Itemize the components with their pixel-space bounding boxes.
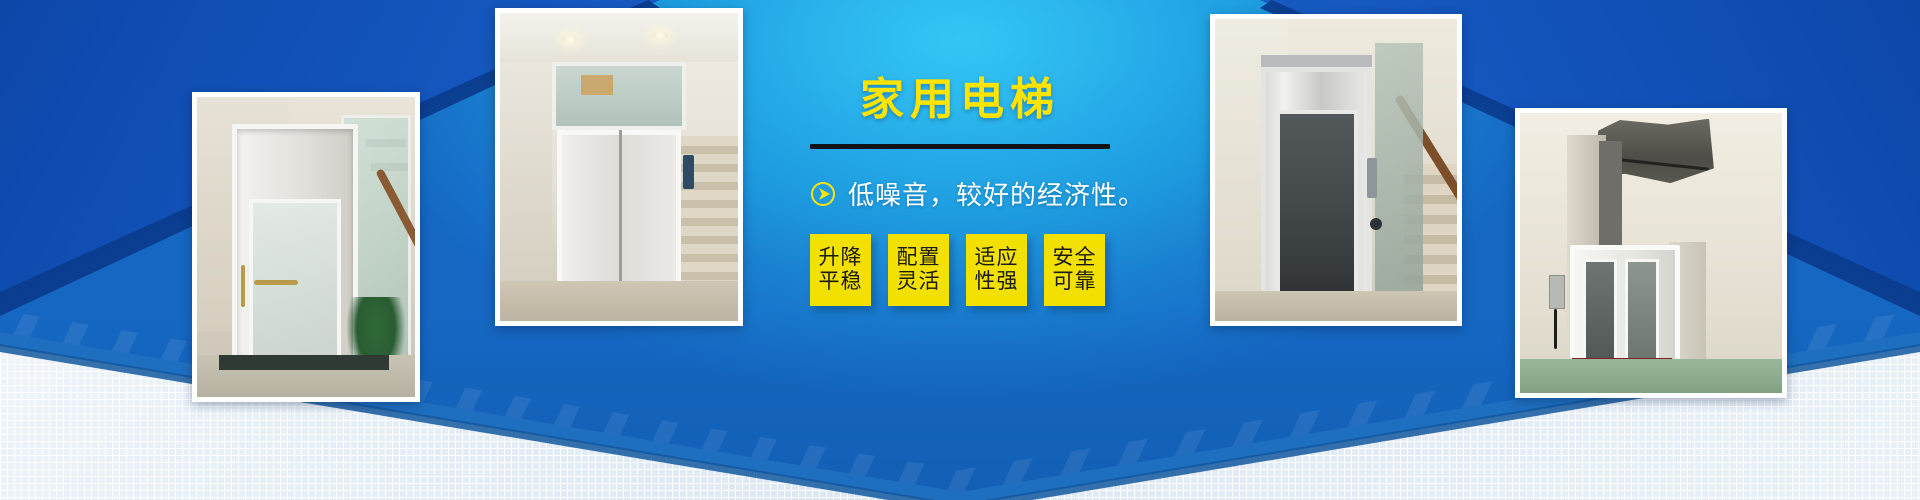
home-elevator-banner: 家用电梯 低噪音，较好的经济性。 升降 平稳 配置 灵活 适应 性强 [0,0,1920,500]
feature-badge-list: 升降 平稳 配置 灵活 适应 性强 安全 可靠 [810,234,1110,306]
feature-badge: 适应 性强 [966,234,1027,306]
badge-line-2: 灵活 [897,270,941,294]
feature-badge: 安全 可靠 [1044,234,1105,306]
banner-subtitle-text: 低噪音，较好的经济性。 [848,175,1145,212]
feature-badge: 升降 平稳 [810,234,871,306]
badge-line-1: 升降 [819,246,863,270]
banner-title: 家用电梯 [810,78,1110,122]
banner-subtitle-row: 低噪音，较好的经济性。 [810,175,1110,212]
badge-line-1: 适应 [975,246,1019,270]
badge-line-2: 平稳 [819,270,863,294]
photo-elevator-installation-unfinished [1515,108,1787,398]
banner-content: 家用电梯 低噪音，较好的经济性。 升降 平稳 配置 灵活 适应 性强 [810,78,1110,306]
photo-indoor-elevator-double-door [495,8,743,326]
feature-badge: 配置 灵活 [888,234,949,306]
title-divider [810,144,1110,149]
badge-line-2: 可靠 [1053,270,1097,294]
circle-play-arrow-icon [810,181,836,207]
badge-line-2: 性强 [975,270,1019,294]
badge-line-1: 安全 [1053,246,1097,270]
photo-glass-shaft-home-elevator [192,92,420,402]
badge-line-1: 配置 [897,246,941,270]
photo-stainless-elevator-stairs [1210,14,1462,326]
